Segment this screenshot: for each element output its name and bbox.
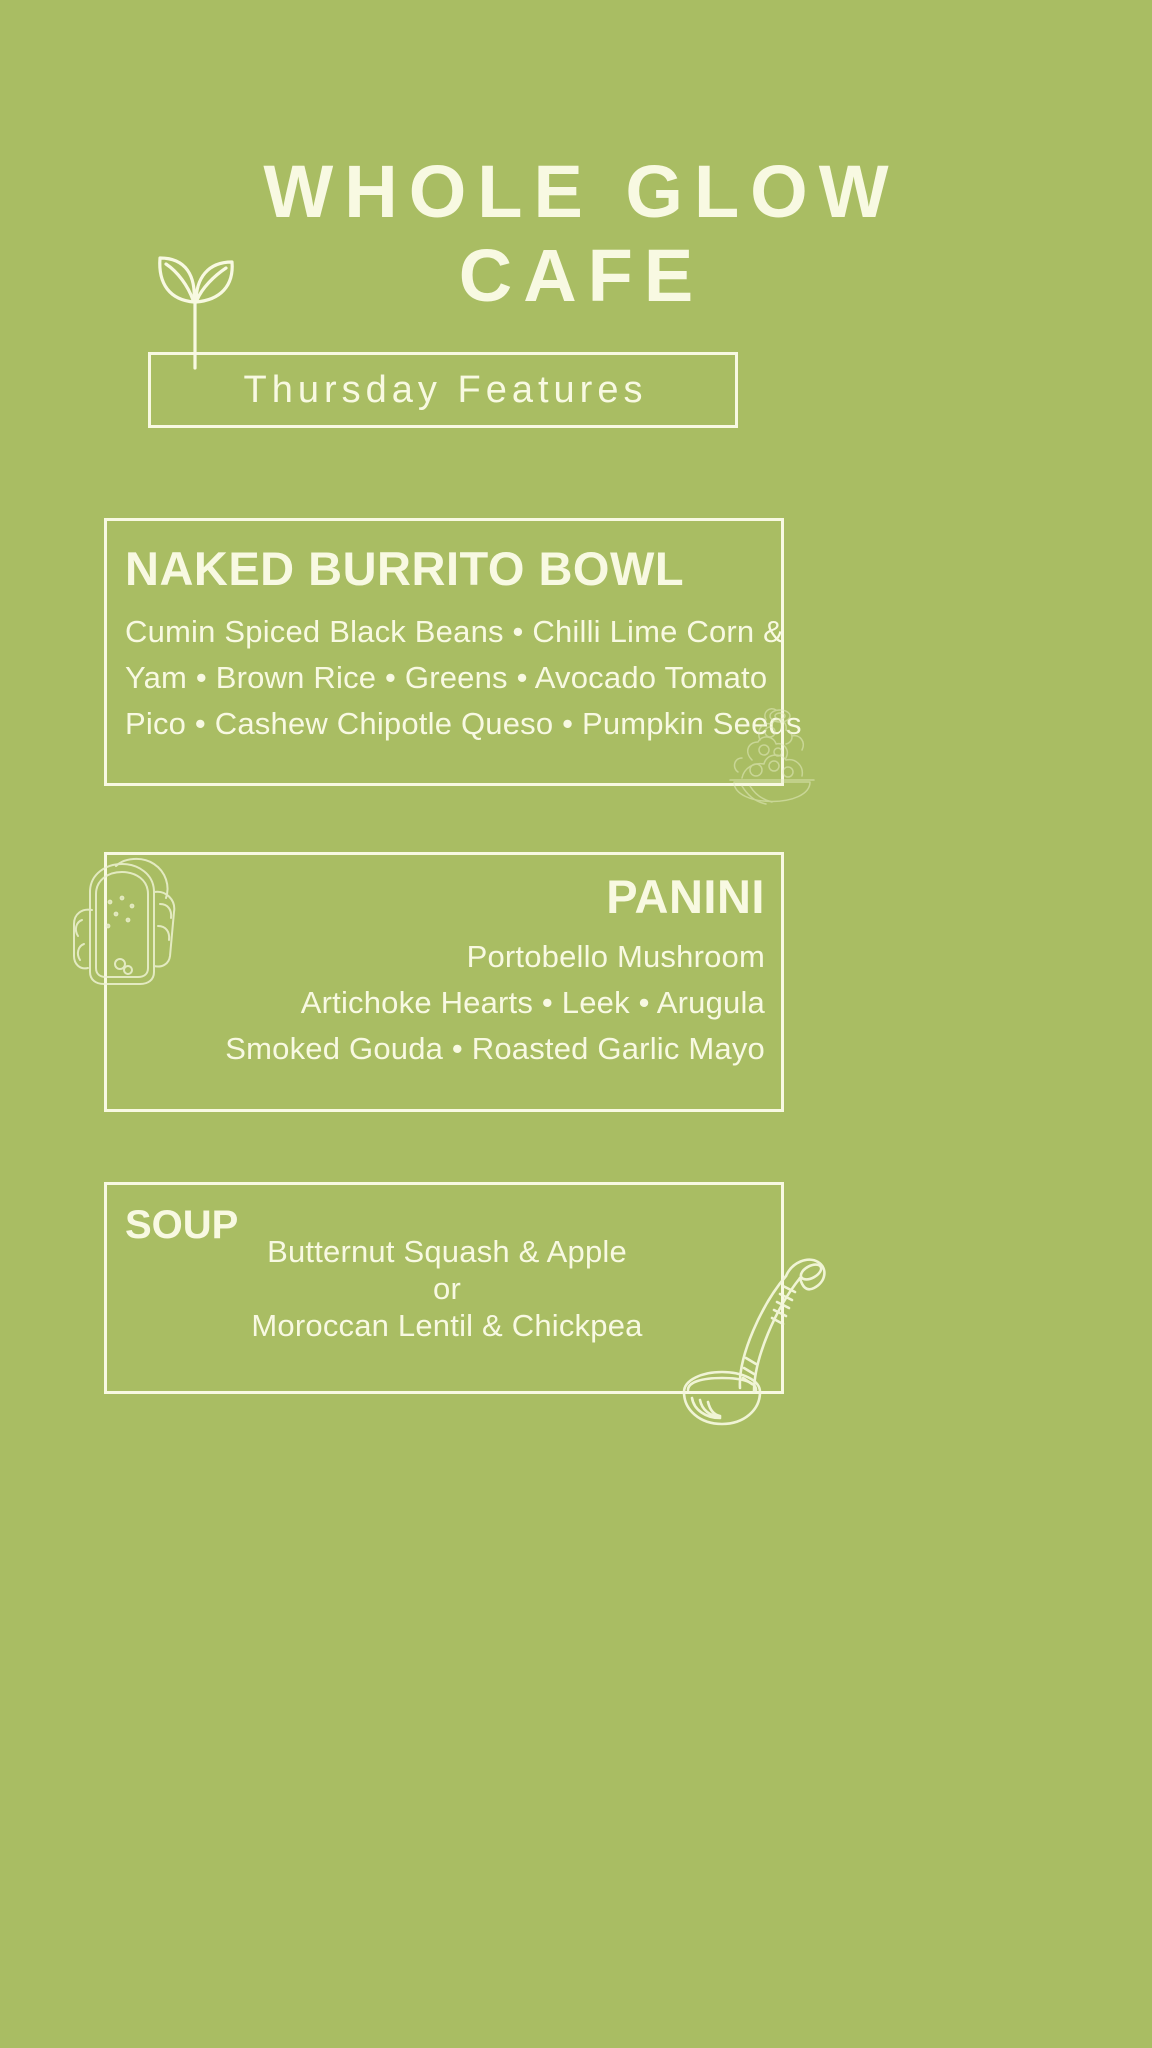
- menu-card-burrito-line-1: Cumin Spiced Black Beans • Chilli Lime C…: [125, 609, 781, 655]
- menu-card-soup-line-3: Moroccan Lentil & Chickpea: [107, 1307, 787, 1344]
- menu-card-burrito: NAKED BURRITO BOWL Cumin Spiced Black Be…: [104, 518, 784, 786]
- menu-card-soup: SOUP Butternut Squash & Apple or Morocca…: [104, 1182, 784, 1394]
- thursday-features-banner: Thursday Features: [148, 352, 738, 428]
- sprout-icon: [146, 238, 246, 370]
- menu-card-panini-title: PANINI: [107, 873, 765, 920]
- menu-card-soup-line-1: Butternut Squash & Apple: [107, 1233, 787, 1270]
- menu-card-panini-line-3: Smoked Gouda • Roasted Garlic Mayo: [107, 1026, 765, 1072]
- menu-card-burrito-line-3: Pico • Cashew Chipotle Queso • Pumpkin S…: [125, 701, 781, 747]
- brand-line-1: WHOLE GLOW: [263, 150, 899, 233]
- menu-poster: WHOLE GLOW CAFE Thursday Features NAKED …: [0, 0, 1152, 2048]
- menu-card-panini-line-2: Artichoke Hearts • Leek • Arugula: [107, 980, 765, 1026]
- menu-card-panini: PANINI Portobello Mushroom Artichoke Hea…: [104, 852, 784, 1112]
- menu-card-soup-options: Butternut Squash & Apple or Moroccan Len…: [107, 1233, 787, 1344]
- menu-card-panini-line-1: Portobello Mushroom: [107, 934, 765, 980]
- menu-card-soup-line-2: or: [107, 1270, 787, 1307]
- features-label: Thursday Features: [239, 369, 648, 412]
- menu-card-burrito-line-2: Yam • Brown Rice • Greens • Avocado Toma…: [125, 655, 781, 701]
- menu-card-burrito-title: NAKED BURRITO BOWL: [125, 545, 781, 592]
